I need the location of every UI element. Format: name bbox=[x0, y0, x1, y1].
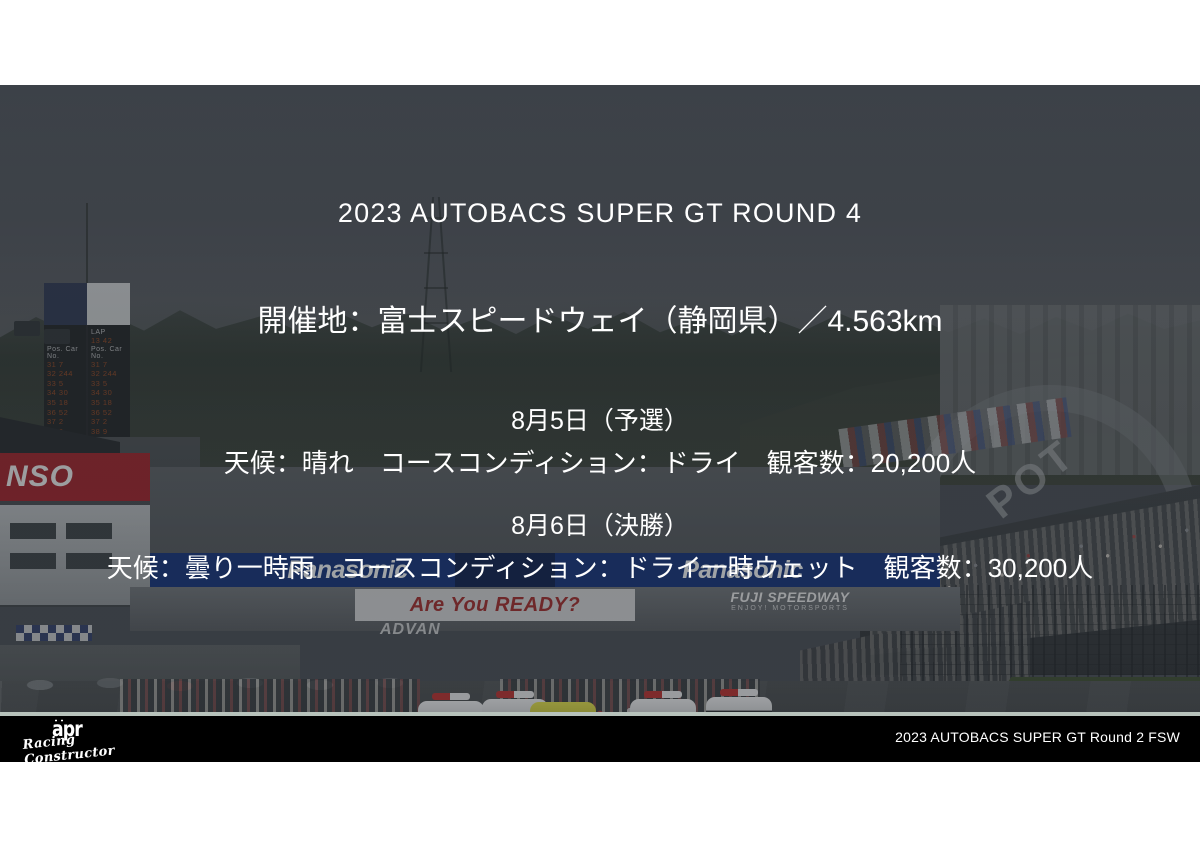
board-row: 32 244 bbox=[44, 369, 86, 379]
board-row: 34 30 bbox=[88, 388, 130, 398]
board-row: 37 2 bbox=[88, 417, 130, 427]
board-row: 33 5 bbox=[44, 379, 86, 389]
lap-label: LAP bbox=[88, 329, 130, 336]
tower-header bbox=[44, 283, 130, 325]
apr-logo-umlaut-icon bbox=[54, 719, 65, 722]
board-row: 35 18 bbox=[44, 398, 86, 408]
checkered-panel bbox=[16, 625, 92, 641]
safety-car bbox=[706, 689, 772, 712]
screen-message: Are You READY? bbox=[410, 594, 580, 617]
board-row: 33 5 bbox=[88, 379, 130, 389]
fuji-speedway-sign: FUJI SPEEDWAY ENJOY! MOTORSPORTS bbox=[700, 589, 880, 621]
fsw-line-1: FUJI SPEEDWAY bbox=[700, 589, 880, 605]
are-you-ready-screen: Are You READY? bbox=[355, 589, 635, 621]
apr-logo: apr Racing Constructor bbox=[22, 716, 162, 762]
panasonic-right-text: Panasonic bbox=[682, 556, 803, 585]
board-row: 37 2 bbox=[44, 417, 86, 427]
board-row: 38 9 bbox=[88, 427, 130, 437]
transmission-tower-icon bbox=[418, 197, 454, 372]
safety-car bbox=[630, 691, 696, 712]
board-row: 31 7 bbox=[44, 360, 86, 370]
gantry-light-panel bbox=[455, 553, 555, 587]
board-row: 34 30 bbox=[44, 388, 86, 398]
tower-mast bbox=[86, 203, 88, 283]
board-row: 36 52 bbox=[88, 408, 130, 418]
slide-footer: apr Racing Constructor 2023 AUTOBACS SUP… bbox=[0, 716, 1200, 762]
apr-logo-tagline: Racing Constructor bbox=[22, 723, 164, 767]
panasonic-left-text: Panasonic bbox=[287, 556, 408, 585]
lap-value: 13 42 bbox=[88, 336, 130, 346]
board-row: 31 7 bbox=[88, 360, 130, 370]
fsw-line-2: ENJOY! MOTORSPORTS bbox=[700, 605, 880, 612]
board-row: 35 18 bbox=[88, 398, 130, 408]
board-row: 32 244 bbox=[88, 369, 130, 379]
race-start-photo: LAP 13 42 Pos. Car No. 31 7 32 244 33 5 … bbox=[0, 85, 1200, 712]
board-row: 36 52 bbox=[44, 408, 86, 418]
floodlight-icon bbox=[14, 321, 78, 355]
marshal-group-left bbox=[120, 679, 420, 712]
pace-car-yellow bbox=[530, 694, 596, 712]
denso-sign: NSO bbox=[0, 453, 150, 501]
advan-sign: ADVAN bbox=[380, 621, 580, 645]
denso-text: NSO bbox=[6, 460, 74, 494]
footer-event-label: 2023 AUTOBACS SUPER GT Round 2 FSW bbox=[895, 729, 1180, 745]
presentation-slide: LAP 13 42 Pos. Car No. 31 7 32 244 33 5 … bbox=[0, 0, 1200, 849]
col-headers: Pos. Car No. bbox=[88, 346, 130, 360]
safety-car bbox=[418, 693, 484, 712]
